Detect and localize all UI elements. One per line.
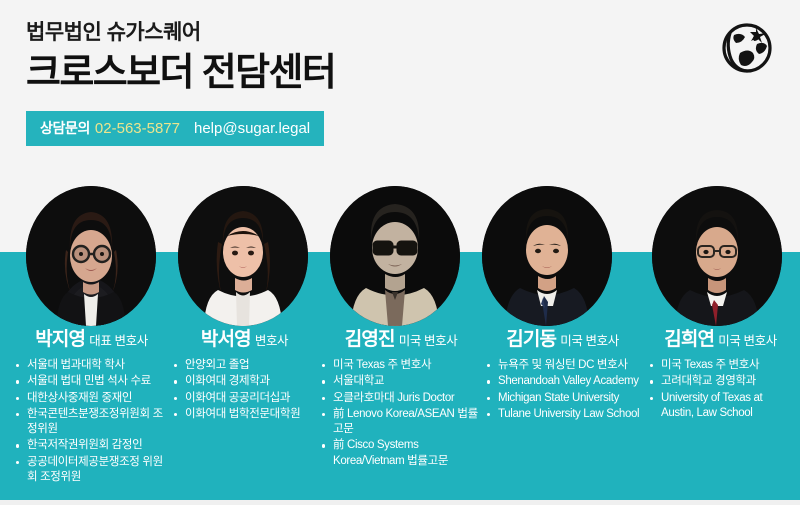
contact-label: 상담문의 xyxy=(40,120,90,136)
contact-badge[interactable]: 상담문의02-563-5877help@sugar.legal xyxy=(26,111,324,146)
profile-credentials-3: 뉴욕주 및 워싱턴 DC 변호사 Shenandoah Valley Acade… xyxy=(485,358,640,422)
bottom-divider xyxy=(0,500,800,505)
contact-phone[interactable]: 02-563-5877 xyxy=(95,120,180,137)
list-item: Michigan State University xyxy=(485,391,640,406)
profile-credentials-1: 안양외고 졸업 이화여대 경제학과 이화여대 공공리더십과 이화여대 법학전문대… xyxy=(172,358,317,422)
profile-name-1: 박서영 xyxy=(201,329,251,350)
profile-role-3: 미국 변호사 xyxy=(560,334,619,348)
photo-park-seoyoung xyxy=(178,186,308,326)
list-item: University of Texas at Austin, Law Schoo… xyxy=(648,391,793,422)
list-item: 한국콘텐츠분쟁조정위원회 조정위원 xyxy=(14,407,169,438)
list-item: 뉴욕주 및 워싱턴 DC 변호사 xyxy=(485,358,640,373)
list-item: Tulane University Law School xyxy=(485,407,640,422)
profile-name-row-3: 김기동미국 변호사 xyxy=(485,330,640,349)
profile-name-row-0: 박지영대표 변호사 xyxy=(14,330,169,349)
list-item: 前 Cisco Systems Korea/Vietnam 법률고문 xyxy=(320,438,482,469)
profile-name-0: 박지영 xyxy=(35,329,85,350)
list-item: 안양외고 졸업 xyxy=(172,358,317,373)
profile-name-2: 김영진 xyxy=(345,329,395,350)
brand-name: 법무법인 슈가스퀘어 xyxy=(26,20,646,45)
list-item: 오클라호마대 Juris Doctor xyxy=(320,391,482,406)
profile-name-4: 김희연 xyxy=(664,329,714,350)
profile-role-1: 변호사 xyxy=(255,334,288,348)
cross-border-center-poster: 법무법인 슈가스퀘어 크로스보더 전담센터 상담문의02-563-5877hel… xyxy=(0,0,800,505)
profile-name-row-2: 김영진미국 변호사 xyxy=(320,330,482,349)
attorney-profile-columns: 박지영대표 변호사 서울대 법과대학 학사 서울대 법대 민법 석사 수료 대한… xyxy=(0,330,800,502)
profile-name-row-4: 김희연미국 변호사 xyxy=(648,330,793,349)
poster-header: 법무법인 슈가스퀘어 크로스보더 전담센터 상담문의02-563-5877hel… xyxy=(26,20,646,146)
profile-name-3: 김기동 xyxy=(506,329,556,350)
profile-column-4: 김희연미국 변호사 미국 Texas 주 변호사 고려대학교 경영학과 Univ… xyxy=(648,330,793,422)
list-item: 이화여대 법학전문대학원 xyxy=(172,407,317,422)
list-item: 서울대 법과대학 학사 xyxy=(14,358,169,373)
profile-column-1: 박서영변호사 안양외고 졸업 이화여대 경제학과 이화여대 공공리더십과 이화여… xyxy=(172,330,317,423)
profile-credentials-4: 미국 Texas 주 변호사 고려대학교 경영학과 University of … xyxy=(648,358,793,421)
list-item: 前 Lenovo Korea/ASEAN 법률고문 xyxy=(320,407,482,438)
list-item: 이화여대 경제학과 xyxy=(172,374,317,389)
profile-column-3: 김기동미국 변호사 뉴욕주 및 워싱턴 DC 변호사 Shenandoah Va… xyxy=(485,330,640,423)
page-title: 크로스보더 전담센터 xyxy=(26,52,646,95)
profile-role-2: 미국 변호사 xyxy=(399,334,458,348)
attorney-photo-row xyxy=(0,186,800,326)
profile-column-0: 박지영대표 변호사 서울대 법과대학 학사 서울대 법대 민법 석사 수료 대한… xyxy=(14,330,169,486)
list-item: 한국저작권위원회 감정인 xyxy=(14,438,169,453)
photo-kim-heeyeon xyxy=(652,186,782,326)
globe-airplane-logo-icon xyxy=(716,16,778,78)
profile-credentials-0: 서울대 법과대학 학사 서울대 법대 민법 석사 수료 대한상사중재원 중재인 … xyxy=(14,358,169,485)
profile-role-0: 대표 변호사 xyxy=(89,334,148,348)
list-item: 공공데이터제공분쟁조정 위원회 조정위원 xyxy=(14,455,169,486)
photo-park-jiyoung xyxy=(26,186,156,326)
list-item: 고려대학교 경영학과 xyxy=(648,374,793,389)
profile-name-row-1: 박서영변호사 xyxy=(172,330,317,349)
profile-column-2: 김영진미국 변호사 미국 Texas 주 변호사 서울대학교 오클라호마대 Ju… xyxy=(320,330,482,470)
list-item: 서울대학교 xyxy=(320,374,482,389)
photo-kim-gidong xyxy=(482,186,612,326)
list-item: 대한상사중재원 중재인 xyxy=(14,391,169,406)
profile-role-4: 미국 변호사 xyxy=(718,334,777,348)
list-item: Shenandoah Valley Academy xyxy=(485,374,640,389)
profile-credentials-2: 미국 Texas 주 변호사 서울대학교 오클라호마대 Juris Doctor… xyxy=(320,358,482,469)
list-item: 미국 Texas 주 변호사 xyxy=(648,358,793,373)
contact-email[interactable]: help@sugar.legal xyxy=(194,120,310,137)
photo-kim-youngjin xyxy=(330,186,460,326)
list-item: 서울대 법대 민법 석사 수료 xyxy=(14,374,169,389)
list-item: 미국 Texas 주 변호사 xyxy=(320,358,482,373)
list-item: 이화여대 공공리더십과 xyxy=(172,391,317,406)
